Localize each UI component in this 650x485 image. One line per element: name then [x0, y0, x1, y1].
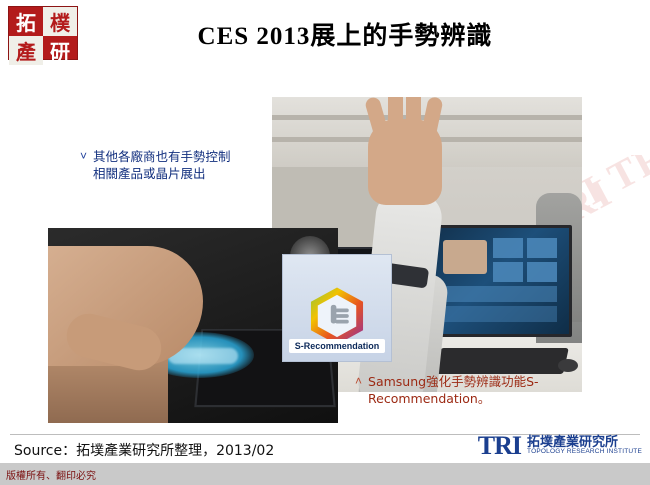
photo-mouse — [558, 359, 578, 372]
footer-logo-cn: 拓墣產業研究所 — [527, 436, 642, 450]
logo-char-1: 拓 — [9, 7, 43, 36]
source-note: Source：拓墣產業研究所整理，2013/02 — [14, 440, 274, 460]
slide-canvas: TRI TRI TRI TRI TRI TRI TRI TRI TRI TRI … — [0, 0, 650, 485]
tri-corner-logo: 拓 樸 產 研 — [8, 6, 78, 60]
photo-monitor-thumb — [493, 238, 523, 258]
page-title: CES 2013展上的手勢辨識 — [110, 16, 580, 52]
footer-logo-mark: TRI — [478, 431, 521, 461]
bullet-marker-icon: ˄ — [355, 373, 362, 389]
bullet-2-line-2: Recommendation。 — [368, 390, 539, 407]
bullet-2-line-1: Samsung強化手勢辨識功能S- — [368, 373, 539, 390]
photo-finger — [388, 97, 403, 135]
footer-logo: TRI 拓墣產業研究所 TOPOLOGY RESEARCH INSTITUTE — [478, 431, 642, 461]
photo-open-hand — [368, 119, 442, 205]
bullet-marker-icon: ˅ — [80, 148, 87, 164]
bullet-1-line-2: 相關產品或晶片展出 — [93, 165, 231, 182]
photo-monitor-portrait — [443, 240, 487, 274]
bullet-1-line-1: 其他各廠商也有手勢控制 — [93, 148, 231, 165]
logo-char-2: 樸 — [43, 7, 77, 36]
photo-main-monitor — [426, 225, 572, 337]
hexagon-gradient-icon — [306, 285, 368, 347]
photo-monitor-thumb — [527, 262, 557, 282]
photo-monitor-strip — [443, 306, 557, 322]
footer-logo-en: TOPOLOGY RESEARCH INSTITUTE — [527, 449, 642, 456]
footer-bar — [0, 463, 650, 485]
s-recommendation-card: S-Recommendation — [282, 254, 392, 362]
copyright-note: 版權所有、翻印必究 — [6, 467, 96, 482]
photo-monitor-thumb — [493, 262, 523, 282]
s-recommendation-label: S-Recommendation — [289, 339, 385, 353]
logo-char-4: 研 — [43, 36, 77, 65]
logo-char-3: 產 — [9, 36, 43, 65]
bullet-block-1: ˅ 其他各廠商也有手勢控制 相關產品或晶片展出 — [80, 148, 295, 182]
photo-monitor-thumb — [527, 238, 557, 258]
bullet-block-2: ˄ Samsung強化手勢辨識功能S- Recommendation。 — [355, 373, 605, 407]
photo-keyboard — [435, 348, 569, 374]
photo-finger — [406, 97, 421, 135]
photo-monitor-strip — [443, 286, 557, 302]
